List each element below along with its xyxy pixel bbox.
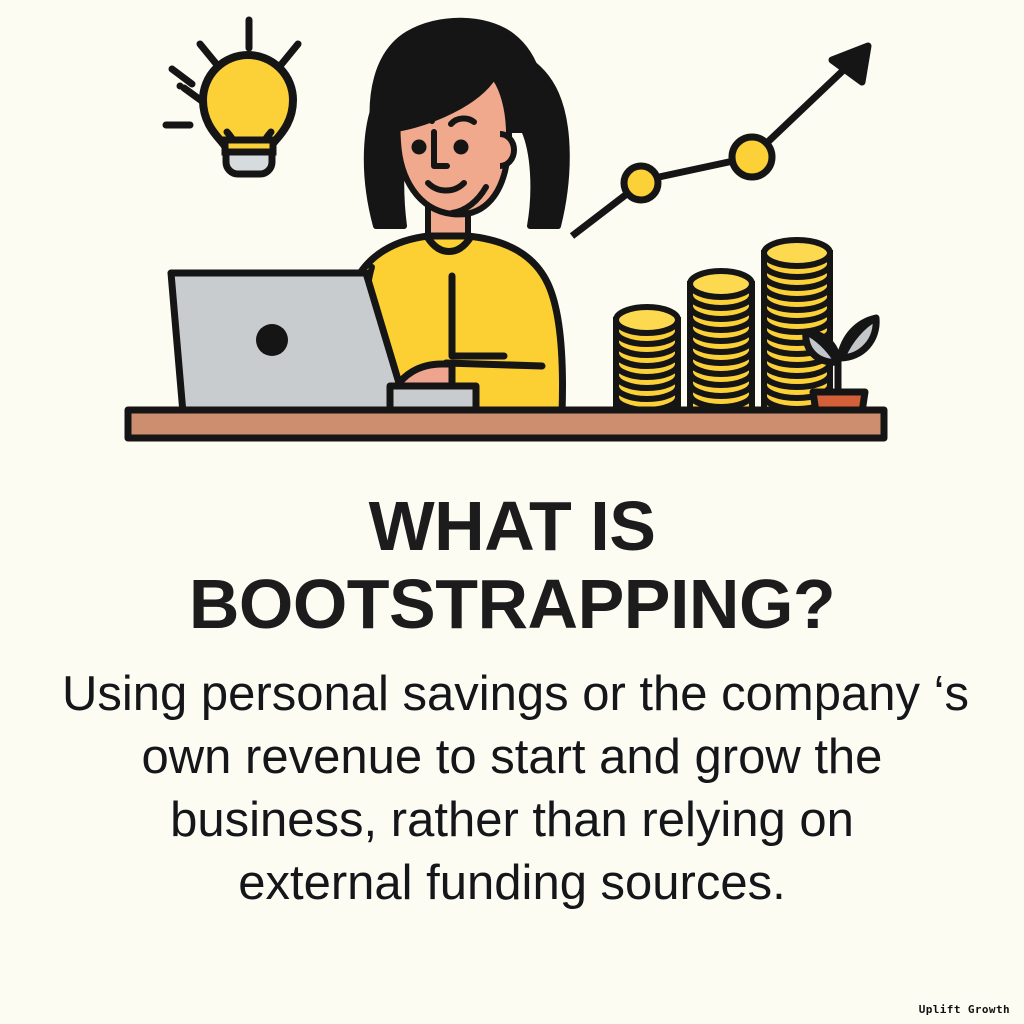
body-line-2: own revenue to start and grow the — [62, 726, 962, 789]
forearm-top-line — [446, 363, 542, 366]
body-line-1: Using personal savings or the company ‘s — [62, 663, 962, 726]
watermark-label: Uplift Growth — [919, 1003, 1010, 1016]
title-line-1: WHAT IS — [0, 487, 1024, 565]
lightbulb-base — [226, 152, 272, 174]
laptop-lid — [171, 273, 408, 413]
laptop-logo-icon — [256, 324, 288, 356]
body-line-4: external funding sources. — [62, 852, 962, 915]
growth-arrow-line — [572, 62, 852, 236]
title-line-2: BOOTSTRAPPING? — [0, 565, 1024, 643]
lightbulb-icon — [166, 20, 298, 174]
lightbulb-ray-left-icon — [166, 69, 192, 125]
body-paragraph: Using personal savings or the company ‘s… — [62, 663, 962, 915]
desk — [128, 410, 884, 438]
growth-arrow-node-1 — [624, 166, 658, 200]
poster-canvas: WHAT IS BOOTSTRAPPING? Using personal sa… — [0, 0, 1024, 1024]
growth-arrow-chart — [572, 46, 868, 236]
eye-left — [412, 140, 427, 155]
ear — [500, 134, 514, 166]
hero-illustration — [0, 0, 1024, 470]
page-title: WHAT IS BOOTSTRAPPING? — [0, 487, 1024, 643]
coin-stack-small — [616, 307, 678, 420]
growth-arrow-node-2 — [732, 137, 772, 177]
eye-right — [454, 140, 469, 155]
desk-surface — [128, 410, 884, 438]
coin-stack-medium — [690, 271, 752, 420]
body-line-3: business, rather than relying on — [62, 789, 962, 852]
